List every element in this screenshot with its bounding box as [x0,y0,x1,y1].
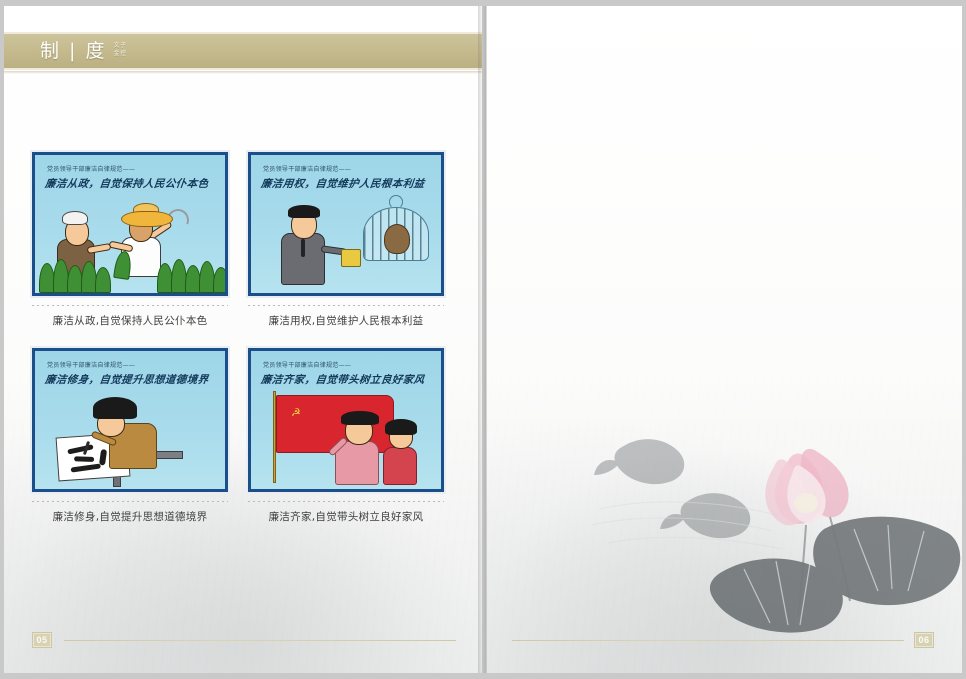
man-hair [93,397,137,419]
caption-divider [248,501,444,502]
illustration-banner-heading: 党员领导干部廉洁自律规范—— [47,164,217,173]
left-page: 制 | 度 文子金控 党员领导干部廉洁自律规范—— 廉洁从政，自觉保持人民公仆本… [4,6,482,673]
illustration-caption-1: 廉洁从政,自觉保持人民公仆本色 [32,313,228,328]
illustration-banner-heading: 党员领导干部廉洁自律规范—— [263,360,433,369]
illustration-card-1: 党员领导干部廉洁自律规范—— 廉洁从政，自觉保持人民公仆本色 [32,152,228,328]
left-page-footer: 05 [4,629,482,651]
scene-calligraphy [35,389,225,489]
illustration-banner-heading: 党员领导干部廉洁自律规范—— [263,164,433,173]
koi-fish-ink-painting [592,413,842,573]
header-subtitle: 文子金控 [113,42,126,60]
illustration-frame-2: 党员领导干部廉洁自律规范—— 廉洁用权，自觉维护人民根本利益 [248,152,444,296]
paper-background [486,6,962,673]
illustration-frame-4: 党员领导干部廉洁自律规范—— 廉洁齐家，自觉带头树立良好家风 ☭ [248,348,444,492]
illustration-caption-3: 廉洁修身,自觉提升思想道德境界 [32,509,228,524]
illustration-banner-slogan: 廉洁齐家，自觉带头树立良好家风 [260,372,436,387]
header-logo-group: 制 | 度 文子金控 [4,42,127,61]
briefcase-icon [341,249,361,267]
illustration-banner-slogan: 廉洁修身，自觉提升思想道德境界 [44,372,220,387]
illustration-banner-slogan: 廉洁从政，自觉保持人民公仆本色 [44,176,220,191]
necktie [301,239,305,257]
illustration-frame-1: 党员领导干部廉洁自律规范—— 廉洁从政，自觉保持人民公仆本色 [32,152,228,296]
page-number-right: 06 [914,632,934,648]
page-number-left: 05 [32,632,52,648]
caption-divider [32,501,228,502]
footer-rule [512,640,904,641]
illustration-banner-heading: 党员领导干部廉洁自律规范—— [47,360,217,369]
book-spread: 制 | 度 文子金控 党员领导干部廉洁自律规范—— 廉洁从政，自觉保持人民公仆本… [0,0,966,679]
illustration-card-3: 党员领导干部廉洁自律规范—— 廉洁修身，自觉提升思想道德境界 [32,348,228,524]
child-hair [385,419,417,435]
book-gutter [478,6,487,673]
illustration-card-2: 党员领导干部廉洁自律规范—— 廉洁用权，自觉维护人民根本利益 [248,152,444,328]
footer-rule [64,640,456,641]
straw-hat-icon [121,211,173,227]
caged-figure [384,224,410,254]
official-hair [288,205,320,218]
right-page-footer: 06 [486,629,962,651]
illustration-caption-4: 廉洁齐家,自觉带头树立良好家风 [248,509,444,524]
illustration-card-4: 党员领导干部廉洁自律规范—— 廉洁齐家，自觉带头树立良好家风 ☭ [248,348,444,524]
scene-farmer-and-official [35,193,225,293]
scene-official-and-birdcage [251,193,441,293]
illustration-banner-slogan: 廉洁用权，自觉维护人民根本利益 [260,176,436,191]
hammer-and-sickle-icon: ☭ [291,408,301,419]
birdcage-icon [363,207,429,261]
illustration-frame-3: 党员领导干部廉洁自律规范—— 廉洁修身，自觉提升思想道德境界 [32,348,228,492]
left-page-header-bar: 制 | 度 文子金控 [4,32,482,70]
headscarf-icon [62,211,88,225]
illustration-grid: 党员领导干部廉洁自律规范—— 廉洁从政，自觉保持人民公仆本色 [32,152,444,524]
child-body [383,447,417,485]
man-hair [341,411,379,425]
right-page: 《国有企业领导人员廉洁从业若干规定》 国有企业领导人员应当切实维护国家和出资人利… [486,6,962,673]
paper-texture [486,6,962,673]
illustration-caption-2: 廉洁用权,自觉维护人民根本利益 [248,313,444,328]
header-title: 制 | 度 [40,42,106,61]
caption-divider [248,305,444,306]
caption-divider [32,305,228,306]
scene-family-and-flag: ☭ [251,389,441,489]
